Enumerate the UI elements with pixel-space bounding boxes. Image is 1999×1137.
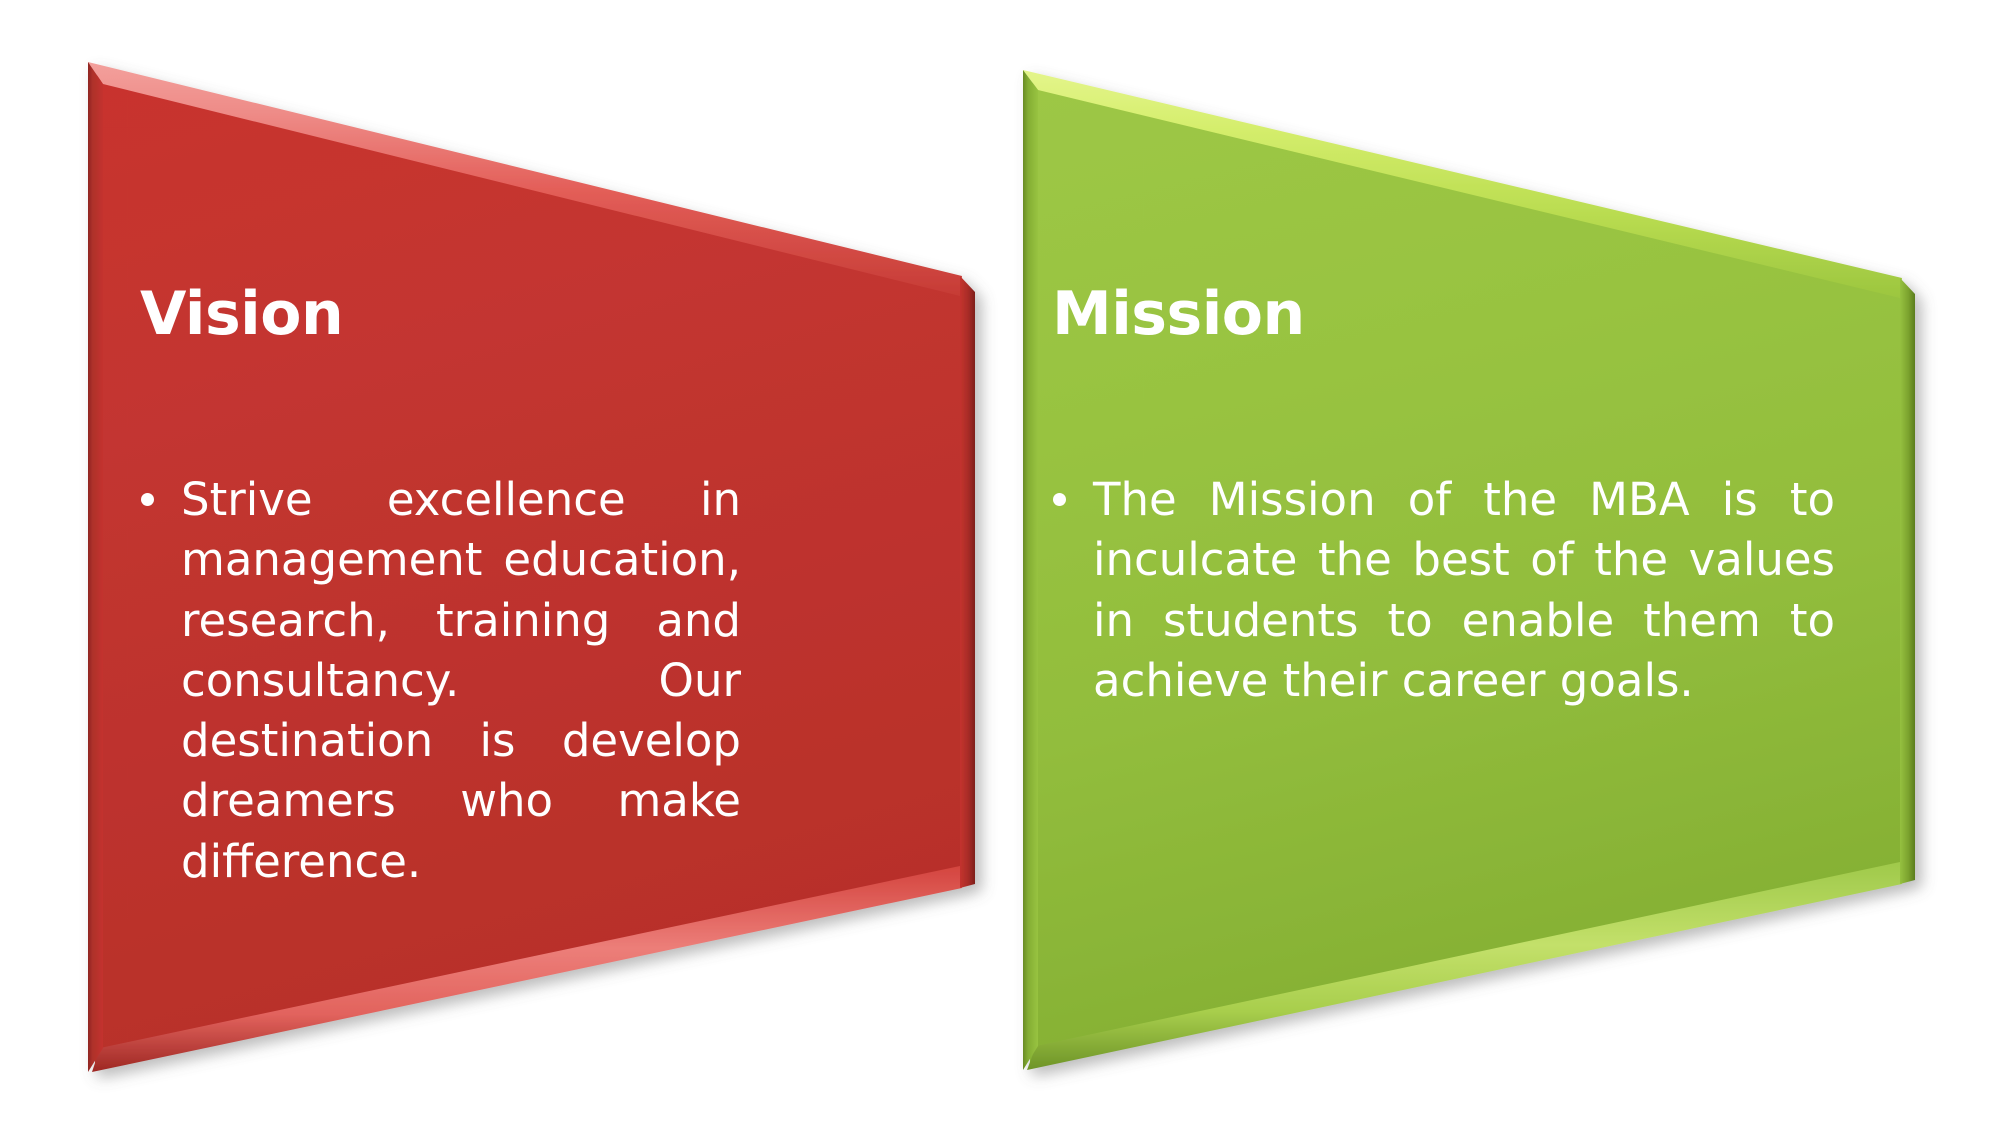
mission-shape-body [1023, 70, 1915, 1070]
mission-bullet-item: The Mission of the MBA is to inculcate t… [1045, 470, 1835, 711]
mission-panel[interactable]: Mission The Mission of the MBA is to inc… [0, 0, 1999, 1137]
mission-bullet-text: The Mission of the MBA is to inculcate t… [1093, 473, 1835, 707]
mission-bullet-list: The Mission of the MBA is to inculcate t… [1045, 470, 1835, 711]
mission-title: Mission [1052, 284, 1305, 344]
vision-panel[interactable]: Vision Strive excellence in management e… [0, 0, 1999, 1137]
vision-bullet-list: Strive excellence in management educatio… [133, 470, 741, 892]
vision-bullet-item: Strive excellence in management educatio… [133, 470, 741, 892]
vision-shape-body [88, 62, 975, 1072]
slide-canvas: Vision Strive excellence in management e… [0, 0, 1999, 1137]
vision-title: Vision [140, 284, 343, 344]
bullet-dot-icon [1053, 493, 1066, 506]
bullet-dot-icon [141, 493, 154, 506]
vision-bullet-text: Strive excellence in management educatio… [181, 473, 741, 888]
